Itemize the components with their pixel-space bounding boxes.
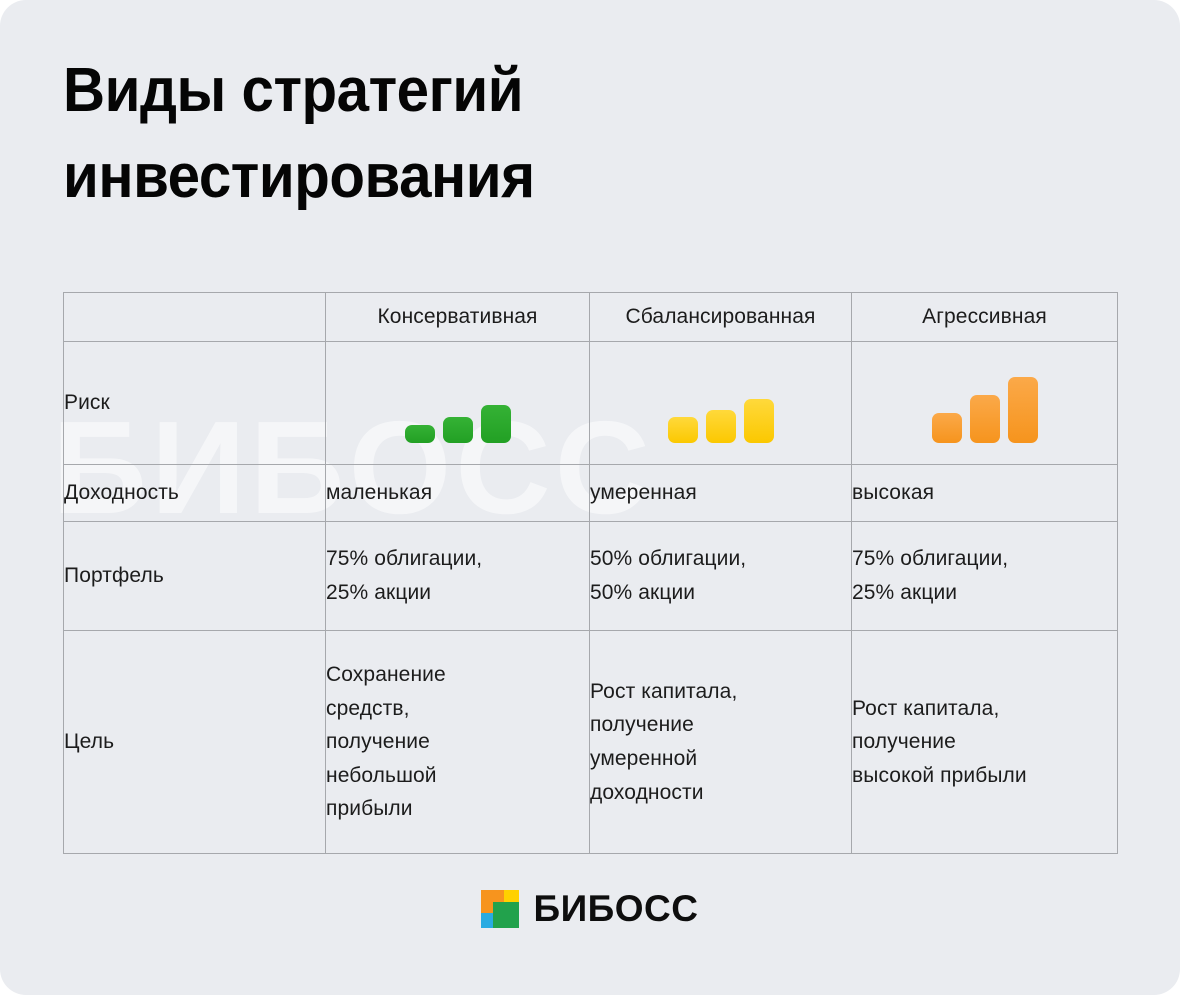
risk-bar [744,399,774,443]
goal-cell-balanced: Рост капитала, получение умеренной доход… [590,631,852,854]
risk-bar [481,405,511,443]
risk-bars-conservative [326,363,589,443]
portfolio-cell-aggressive: 75% облигации, 25% акции [852,522,1118,631]
page-title: Виды стратегий инвестирования [63,48,740,219]
risk-bar [970,395,1000,443]
yield-cell-conservative: маленькая [326,465,590,522]
row-label-portfolio: Портфель [64,522,326,631]
risk-bar [443,417,473,443]
goal-cell-aggressive: Рост капитала, получение высокой прибыли [852,631,1118,854]
logo-square-green [493,902,519,928]
column-header-aggressive: Агрессивная [852,293,1118,342]
table-row-portfolio: Портфель 75% облигации, 25% акции 50% об… [64,522,1118,631]
portfolio-cell-conservative: 75% облигации, 25% акции [326,522,590,631]
column-header-balanced: Сбалансированная [590,293,852,342]
portfolio-cell-balanced: 50% облигации, 50% акции [590,522,852,631]
infographic-card: БИБОСС Виды стратегий инвестирования Кон… [0,0,1180,995]
table-row-yield: Доходность маленькая умеренная высокая [64,465,1118,522]
risk-bar [706,410,736,443]
yield-cell-balanced: умеренная [590,465,852,522]
strategy-table-container: Консервативная Сбалансированная Агрессив… [63,292,1117,854]
table-row-risk: Риск [64,342,1118,465]
risk-bar [405,425,435,443]
table-header-row: Консервативная Сбалансированная Агрессив… [64,293,1118,342]
risk-cell-balanced [590,342,852,465]
risk-bar [1008,377,1038,443]
risk-bars-aggressive [852,363,1117,443]
biboss-logo-icon [481,890,519,928]
strategy-comparison-table: Консервативная Сбалансированная Агрессив… [63,292,1118,854]
goal-cell-conservative: Сохранение средств, получение небольшой … [326,631,590,854]
table-corner-cell [64,293,326,342]
table-row-goal: Цель Сохранение средств, получение небол… [64,631,1118,854]
footer-branding: БИБОСС [0,888,1180,930]
row-label-yield: Доходность [64,465,326,522]
column-header-conservative: Консервативная [326,293,590,342]
risk-bars-balanced [590,363,851,443]
risk-cell-conservative [326,342,590,465]
risk-cell-aggressive [852,342,1118,465]
logo-square-cyan [481,913,493,928]
row-label-goal: Цель [64,631,326,854]
risk-bar [932,413,962,443]
yield-cell-aggressive: высокая [852,465,1118,522]
row-label-risk: Риск [64,342,326,465]
risk-bar [668,417,698,443]
brand-name: БИБОСС [533,888,698,930]
